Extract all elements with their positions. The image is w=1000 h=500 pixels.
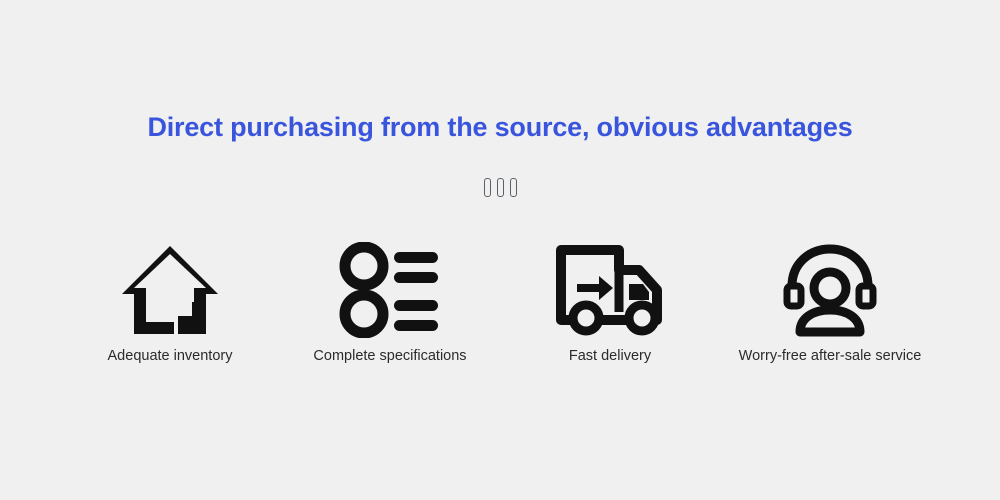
headset-support-agent-icon <box>778 240 882 340</box>
divider-pill-1 <box>484 178 491 197</box>
feature-item-after-sale-service: Worry-free after-sale service <box>720 240 940 364</box>
promo-banner: Direct purchasing from the source, obvio… <box>0 0 1000 500</box>
page-title: Direct purchasing from the source, obvio… <box>0 112 1000 143</box>
feature-label: Worry-free after-sale service <box>739 348 922 364</box>
feature-item-delivery: Fast delivery <box>500 240 720 364</box>
feature-list: Adequate inventory Complete specificatio… <box>60 240 940 364</box>
divider-pill-3 <box>510 178 517 197</box>
feature-label: Complete specifications <box>313 348 466 364</box>
specification-list-icon <box>338 240 442 340</box>
feature-label: Adequate inventory <box>108 348 233 364</box>
feature-label: Fast delivery <box>569 348 651 364</box>
three-pill-divider <box>0 178 1000 197</box>
warehouse-house-icon <box>118 240 222 340</box>
feature-item-inventory: Adequate inventory <box>60 240 280 364</box>
divider-pill-2 <box>497 178 504 197</box>
feature-item-specifications: Complete specifications <box>280 240 500 364</box>
delivery-truck-icon <box>555 240 665 340</box>
